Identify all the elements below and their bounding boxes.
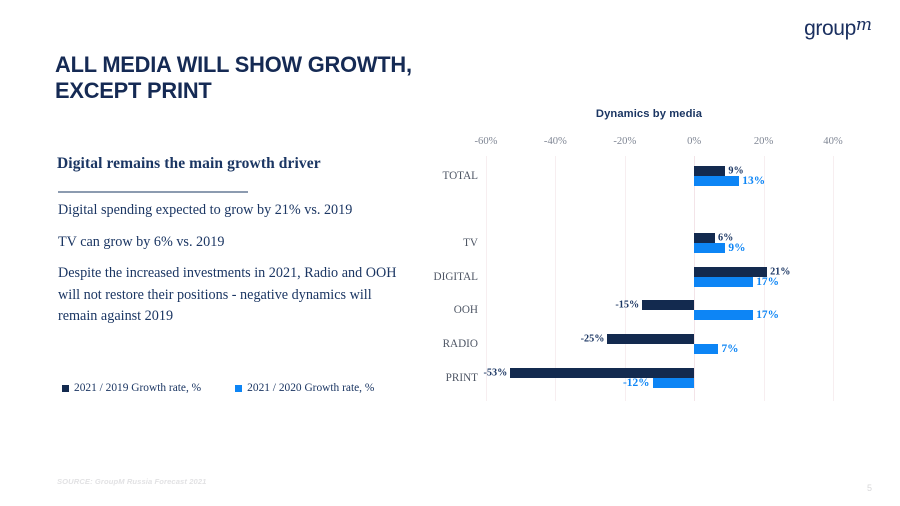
source-note: SOURCE: GroupM Russia Forecast 2021 bbox=[57, 477, 207, 486]
slide-title: ALL MEDIA WILL SHOW GROWTH, EXCEPT PRINT bbox=[55, 52, 462, 105]
x-axis-tick-labels: -60%-40%-20%0%20%40% bbox=[424, 136, 874, 152]
bar-value-label: 17% bbox=[756, 276, 779, 288]
bar bbox=[694, 176, 739, 186]
body-paragraph-1: Digital spending expected to grow by 21%… bbox=[58, 200, 398, 222]
logo-wordmark: group bbox=[804, 17, 856, 40]
bar bbox=[607, 334, 694, 344]
bar bbox=[653, 378, 695, 388]
bar-value-label: 17% bbox=[756, 309, 779, 321]
legend-label: 2021 / 2020 Growth rate, % bbox=[247, 382, 374, 394]
gridline bbox=[486, 156, 487, 401]
category-label: PRINT bbox=[446, 372, 478, 384]
bar bbox=[694, 310, 753, 320]
legend-swatch-icon bbox=[62, 385, 69, 392]
x-axis-tick-label: 0% bbox=[687, 136, 701, 147]
bar bbox=[694, 243, 725, 253]
lead-statement: Digital remains the main growth driver bbox=[57, 155, 417, 173]
bar bbox=[694, 166, 725, 176]
bar-value-label: -12% bbox=[623, 377, 650, 389]
legend-item-2021-2019: 2021 / 2019 Growth rate, % bbox=[62, 382, 201, 394]
body-paragraph-3: Despite the increased investments in 202… bbox=[58, 263, 398, 328]
category-label: TV bbox=[463, 237, 478, 249]
bar bbox=[694, 344, 718, 354]
chart-legend: 2021 / 2019 Growth rate, % 2021 / 2020 G… bbox=[62, 382, 374, 394]
logo-m-mark: m bbox=[856, 15, 872, 35]
x-axis-tick-label: 40% bbox=[823, 136, 842, 147]
bar-value-label: -53% bbox=[484, 367, 508, 378]
bar-value-label: 9% bbox=[728, 242, 745, 254]
bar-value-label: 7% bbox=[721, 343, 738, 355]
gridline bbox=[555, 156, 556, 401]
category-label: RADIO bbox=[443, 338, 478, 350]
bar-value-label: 13% bbox=[742, 175, 765, 187]
gridline bbox=[625, 156, 626, 401]
gridline bbox=[833, 156, 834, 401]
bar bbox=[642, 300, 694, 310]
x-axis-tick-label: -40% bbox=[544, 136, 567, 147]
legend-item-2021-2020: 2021 / 2020 Growth rate, % bbox=[235, 382, 374, 394]
category-label: DIGITAL bbox=[434, 271, 478, 283]
chart-title: Dynamics by media bbox=[424, 108, 874, 120]
divider-rule bbox=[58, 191, 248, 193]
legend-swatch-icon bbox=[235, 385, 242, 392]
bar-value-label: -15% bbox=[615, 300, 639, 311]
category-label: OOH bbox=[454, 304, 478, 316]
legend-label: 2021 / 2019 Growth rate, % bbox=[74, 382, 201, 394]
category-label: TOTAL bbox=[442, 170, 478, 182]
chart-plot-area: -60%-40%-20%0%20%40% TOTAL9%13%TV6%9%DIG… bbox=[424, 136, 874, 401]
bar-value-label: -25% bbox=[581, 334, 605, 345]
dynamics-by-media-chart: Dynamics by media -60%-40%-20%0%20%40% T… bbox=[424, 108, 874, 408]
bar bbox=[694, 277, 753, 287]
chart-grid-and-bars: TOTAL9%13%TV6%9%DIGITAL21%17%OOH-15%17%R… bbox=[424, 156, 874, 401]
body-paragraph-2: TV can grow by 6% vs. 2019 bbox=[58, 232, 398, 254]
x-axis-tick-label: -20% bbox=[613, 136, 636, 147]
bar bbox=[510, 368, 694, 378]
x-axis-tick-label: 20% bbox=[754, 136, 773, 147]
page-number: 5 bbox=[867, 483, 872, 493]
x-axis-tick-label: -60% bbox=[475, 136, 498, 147]
groupm-logo: groupm bbox=[804, 18, 872, 39]
bar bbox=[694, 233, 715, 243]
body-copy: Digital spending expected to grow by 21%… bbox=[58, 200, 398, 338]
